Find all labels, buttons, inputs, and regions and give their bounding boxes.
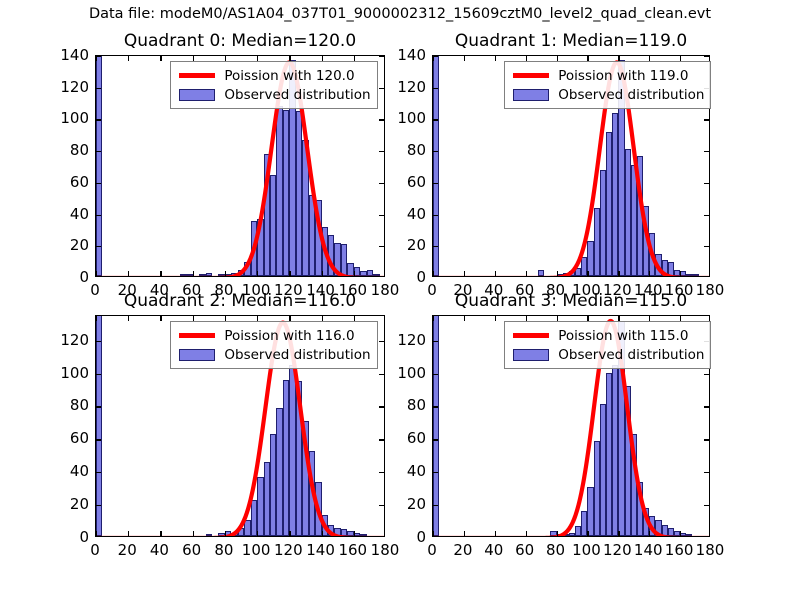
x-tick-label: 40 <box>484 541 503 559</box>
x-tick-label: 120 <box>603 541 632 559</box>
x-tick <box>433 531 434 536</box>
histogram-bar <box>686 534 692 536</box>
y-tick-right <box>704 472 709 473</box>
y-tick <box>433 439 438 440</box>
x-tick <box>464 531 465 536</box>
x-tick-label: 60 <box>515 541 534 559</box>
x-tick-label: 20 <box>453 541 472 559</box>
x-tick-label: 80 <box>546 541 565 559</box>
y-tick <box>433 374 438 375</box>
x-tick <box>618 531 619 536</box>
x-tick <box>680 531 681 536</box>
x-tick-label: 0 <box>427 541 437 559</box>
legend-line-swatch-icon <box>511 329 551 343</box>
y-tick <box>433 472 438 473</box>
x-tick-top <box>433 316 434 321</box>
legend-patch-swatch-icon <box>511 348 551 362</box>
y-tick <box>433 505 438 506</box>
x-tick-label: 140 <box>634 541 663 559</box>
x-tick-label: 180 <box>696 541 725 559</box>
y-tick-right <box>704 374 709 375</box>
x-tick-label: 160 <box>665 541 694 559</box>
histogram-bar <box>433 315 439 536</box>
y-tick-right <box>704 406 709 407</box>
x-tick-top <box>495 316 496 321</box>
legend: Poission with 115.0Observed distribution <box>504 321 711 369</box>
subplot-title: Quadrant 3: Median=115.0 <box>432 291 710 311</box>
x-tick-label: 100 <box>572 541 601 559</box>
y-tick-label: 120 <box>380 331 426 349</box>
y-tick-label: 100 <box>380 364 426 382</box>
legend-row-observed: Observed distribution <box>511 345 704 364</box>
y-tick <box>433 406 438 407</box>
x-tick <box>557 531 558 536</box>
subplot-quadrant-3: Quadrant 3: Median=115.00204060801001201… <box>0 0 800 600</box>
y-tick-label: 20 <box>380 495 426 513</box>
y-tick-label: 80 <box>380 396 426 414</box>
y-tick-right <box>704 439 709 440</box>
x-tick <box>526 531 527 536</box>
y-tick-label: 60 <box>380 429 426 447</box>
y-tick-label: 0 <box>380 528 426 546</box>
y-tick-label: 40 <box>380 462 426 480</box>
figure-canvas: Data file: modeM0/AS1A04_037T01_90000023… <box>0 0 800 600</box>
legend-label-observed: Observed distribution <box>558 347 704 363</box>
x-tick <box>495 531 496 536</box>
y-tick <box>433 341 438 342</box>
y-tick-right <box>704 505 709 506</box>
x-tick <box>587 531 588 536</box>
x-tick <box>649 531 650 536</box>
legend-row-poisson: Poission with 115.0 <box>511 326 704 345</box>
x-tick-top <box>464 316 465 321</box>
legend-label-poisson: Poission with 115.0 <box>558 328 688 344</box>
